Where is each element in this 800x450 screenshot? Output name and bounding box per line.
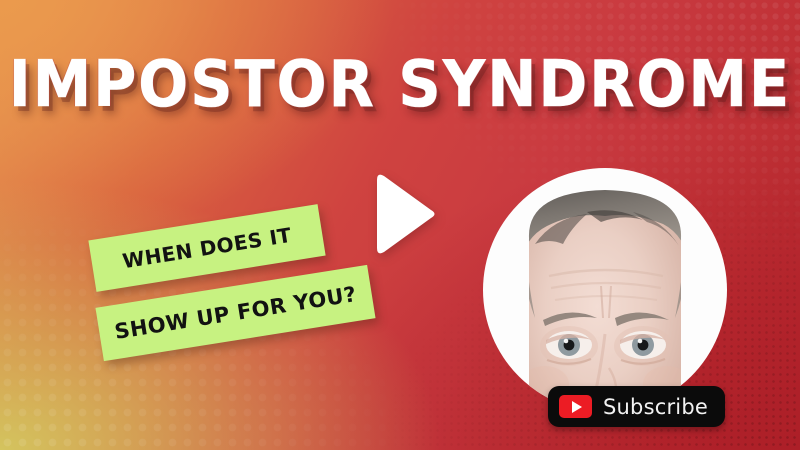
avatar: [483, 168, 727, 412]
subscribe-button[interactable]: Subscribe: [548, 386, 725, 427]
subscribe-label: Subscribe: [603, 395, 708, 419]
page-title: IMPOSTOR SYNDROME: [0, 48, 800, 122]
play-triangle-icon[interactable]: [369, 170, 439, 258]
callout-label-1: WHEN DOES IT: [121, 223, 293, 273]
youtube-play-icon: [559, 395, 592, 418]
face-photo-image: [483, 168, 727, 412]
callout-label-2: SHOW UP FOR YOU?: [113, 282, 358, 344]
youtube-thumbnail: IMPOSTOR SYNDROME WHEN DOES IT SHOW UP F…: [0, 0, 800, 450]
